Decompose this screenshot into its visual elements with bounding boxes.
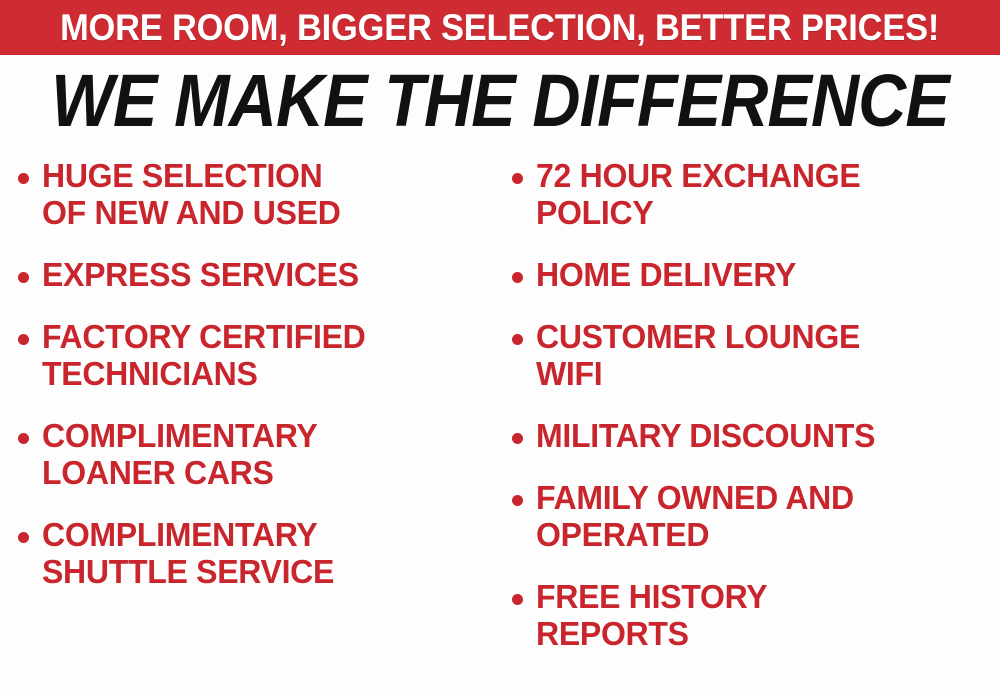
list-item: HUGE SELECTION OF NEW AND USED [18, 158, 498, 232]
list-item: FREE HISTORY REPORTS [512, 579, 1000, 653]
header-headline: MORE ROOM, BIGGER SELECTION, BETTER PRIC… [60, 9, 939, 46]
header-banner-bar: MORE ROOM, BIGGER SELECTION, BETTER PRIC… [0, 0, 1000, 55]
list-item: 72 HOUR EXCHANGE POLICY [512, 158, 1000, 232]
list-item: COMPLIMENTARY LOANER CARS [18, 418, 498, 492]
list-item-label: FACTORY CERTIFIED TECHNICIANS [42, 319, 484, 393]
bullet-dot-icon [512, 334, 523, 345]
promotional-banner: MORE ROOM, BIGGER SELECTION, BETTER PRIC… [0, 0, 1000, 694]
bullet-dot-icon [18, 433, 29, 444]
bullet-dot-icon [512, 272, 523, 283]
list-item-label: EXPRESS SERVICES [42, 257, 484, 294]
list-item-label: 72 HOUR EXCHANGE POLICY [536, 158, 986, 232]
features-column-left: HUGE SELECTION OF NEW AND USED EXPRESS S… [18, 158, 498, 616]
list-item-label: CUSTOMER LOUNGE WIFI [536, 319, 986, 393]
bullet-dot-icon [18, 272, 29, 283]
list-item: FAMILY OWNED AND OPERATED [512, 480, 1000, 554]
list-item-label: COMPLIMENTARY LOANER CARS [42, 418, 484, 492]
list-item: CUSTOMER LOUNGE WIFI [512, 319, 1000, 393]
bullet-dot-icon [512, 495, 523, 506]
list-item: FACTORY CERTIFIED TECHNICIANS [18, 319, 498, 393]
bullet-dot-icon [512, 594, 523, 605]
list-item-label: FAMILY OWNED AND OPERATED [536, 480, 986, 554]
features-columns: HUGE SELECTION OF NEW AND USED EXPRESS S… [0, 158, 1000, 694]
page-title: WE MAKE THE DIFFERENCE [50, 64, 950, 138]
list-item: COMPLIMENTARY SHUTTLE SERVICE [18, 517, 498, 591]
bullet-dot-icon [18, 173, 29, 184]
list-item: HOME DELIVERY [512, 257, 1000, 294]
features-column-right: 72 HOUR EXCHANGE POLICY HOME DELIVERY CU… [512, 158, 1000, 678]
list-item-label: COMPLIMENTARY SHUTTLE SERVICE [42, 517, 484, 591]
bullet-dot-icon [18, 334, 29, 345]
bullet-dot-icon [512, 173, 523, 184]
list-item-label: HUGE SELECTION OF NEW AND USED [42, 158, 484, 232]
bullet-dot-icon [18, 532, 29, 543]
list-item: MILITARY DISCOUNTS [512, 418, 1000, 455]
bullet-dot-icon [512, 433, 523, 444]
list-item-label: FREE HISTORY REPORTS [536, 579, 986, 653]
list-item: EXPRESS SERVICES [18, 257, 498, 294]
list-item-label: HOME DELIVERY [536, 257, 986, 294]
list-item-label: MILITARY DISCOUNTS [536, 418, 986, 455]
